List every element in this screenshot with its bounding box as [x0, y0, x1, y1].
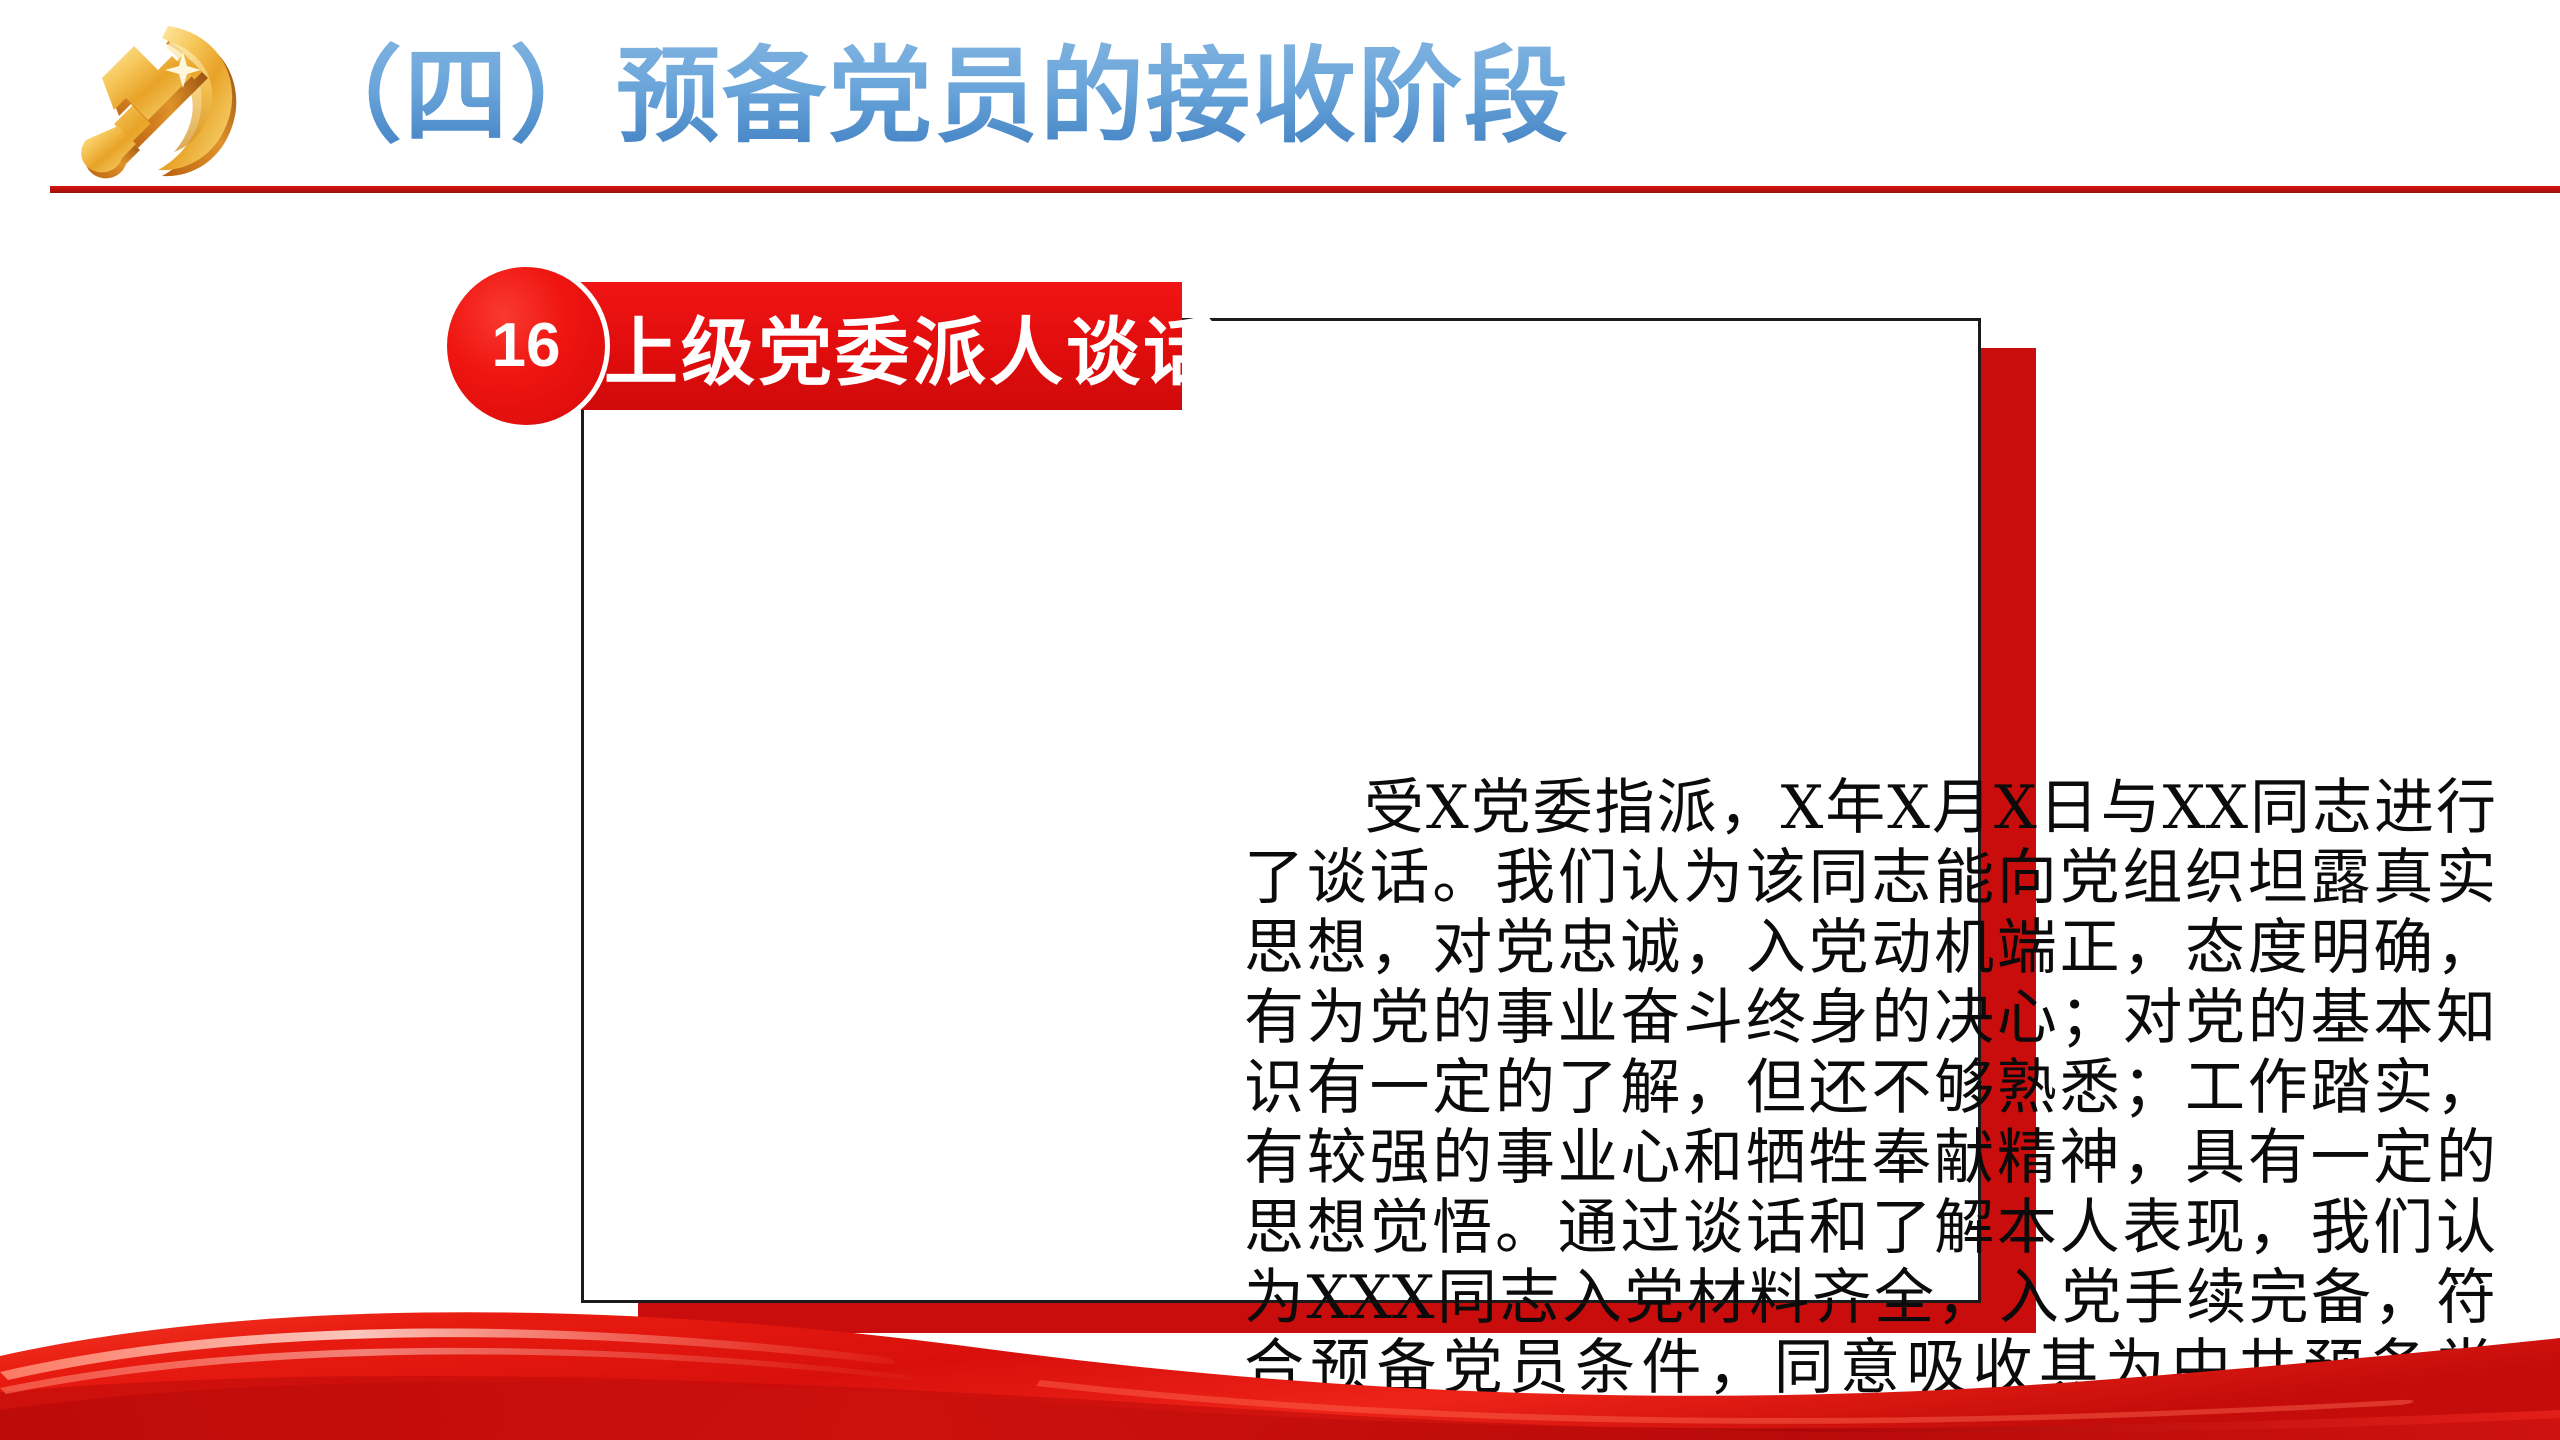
badge-number-label: 16: [492, 315, 561, 377]
slide-canvas: （四）预备党员的接收阶段 受X党委指派，X年X月X日与XX同志进行了谈话。我们认…: [0, 0, 2560, 1440]
badge-number-circle: 16: [442, 262, 610, 430]
party-emblem-icon: [62, 12, 252, 192]
slide-header: （四）预备党员的接收阶段: [0, 0, 2560, 195]
header-divider: [50, 186, 2560, 193]
section-badge: 16 上级党委派人谈话: [442, 262, 1182, 430]
red-ribbon-wave-icon: [0, 1260, 2560, 1440]
content-card: 受X党委指派，X年X月X日与XX同志进行了谈话。我们认为该同志能向党组织坦露真实…: [581, 318, 1981, 1303]
badge-title-label: 上级党委派人谈话: [604, 290, 1184, 402]
page-title: （四）预备党员的接收阶段: [298, 38, 1570, 158]
